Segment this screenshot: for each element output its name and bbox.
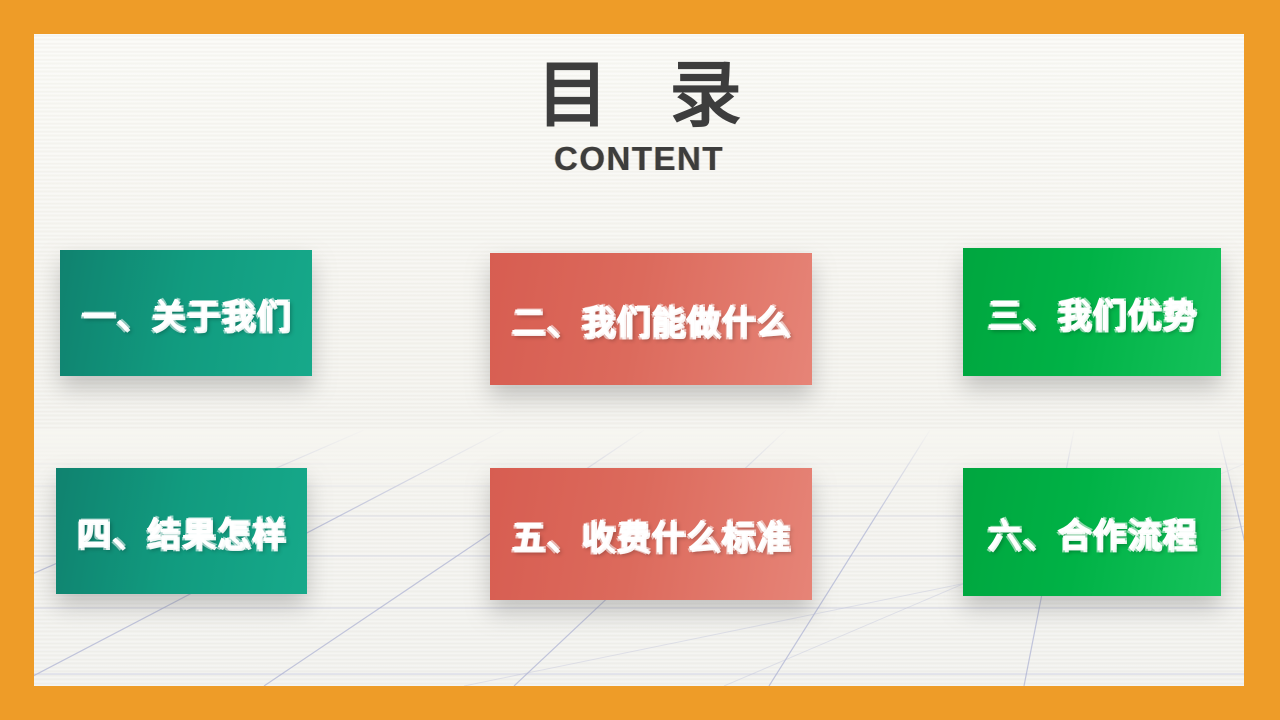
agenda-item-5-label: 五、收费什么标准: [511, 510, 791, 559]
agenda-item-5[interactable]: 五、收费什么标准: [490, 468, 812, 600]
agenda-item-1[interactable]: 一、关于我们: [60, 250, 312, 376]
slide-canvas: 目 录 CONTENT 一、关于我们 二、我们能做什么 三、我们优势 四、结果怎…: [34, 34, 1244, 686]
agenda-item-6-label: 六、合作流程: [987, 508, 1197, 557]
agenda-item-3[interactable]: 三、我们优势: [963, 248, 1221, 376]
agenda-item-1-label: 一、关于我们: [81, 289, 291, 338]
page-title: 目 录: [34, 58, 1244, 134]
page-subtitle: CONTENT: [34, 140, 1244, 178]
agenda-item-4-label: 四、结果怎样: [77, 507, 287, 556]
agenda-item-3-label: 三、我们优势: [987, 288, 1197, 337]
agenda-item-2-label: 二、我们能做什么: [511, 295, 791, 344]
slide-heading: 目 录 CONTENT: [34, 58, 1244, 178]
presentation-slide: 目 录 CONTENT 一、关于我们 二、我们能做什么 三、我们优势 四、结果怎…: [0, 0, 1280, 720]
agenda-item-4[interactable]: 四、结果怎样: [56, 468, 307, 594]
agenda-item-2[interactable]: 二、我们能做什么: [490, 253, 812, 385]
agenda-item-6[interactable]: 六、合作流程: [963, 468, 1221, 596]
